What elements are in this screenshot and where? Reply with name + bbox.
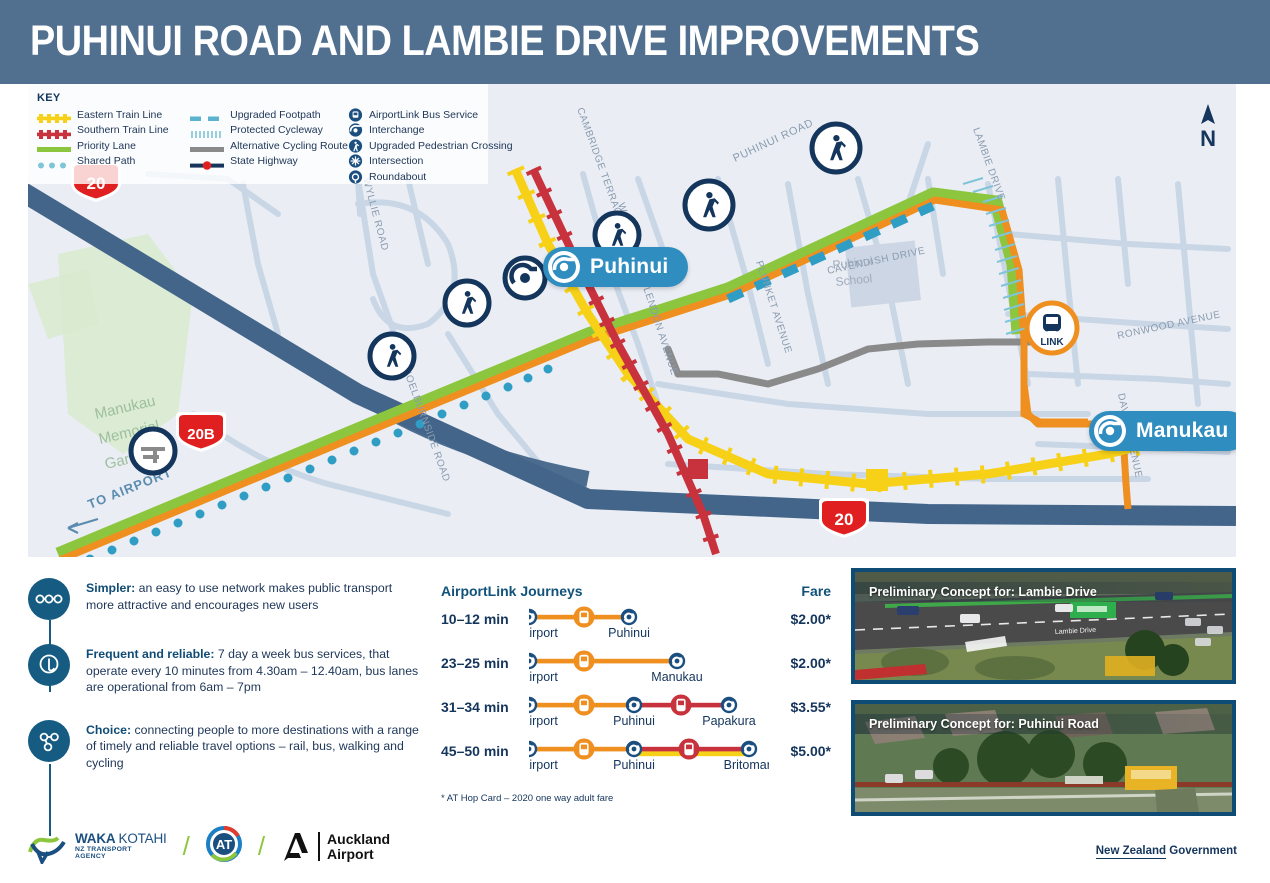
dash-teal-swatch <box>190 110 224 119</box>
footer-logos: WAKA KOTAHI NZ TRANSPORT AGENCY / AT / <box>28 826 390 867</box>
benefit-lead: Choice: <box>86 723 131 737</box>
svg-text:N: N <box>1200 126 1216 151</box>
journey-row: 23–25 min AirportManukau $2.00* <box>441 649 831 687</box>
waka-kotahi-line2: KOTAHI <box>119 831 167 846</box>
legend-label: Alternative Cycling Route <box>230 140 348 152</box>
svg-text:AT: AT <box>216 837 232 852</box>
infographic-page: PUHINUI ROAD AND LAMBIE DRIVE IMPROVEMEN… <box>0 0 1270 883</box>
journey-stop-label: Manukau <box>651 670 702 684</box>
journey-stop-label: Britomart <box>724 758 769 772</box>
roundabout-icon <box>348 170 363 184</box>
svg-text:20: 20 <box>835 510 854 529</box>
journey-fare: $2.00* <box>791 611 831 627</box>
nz-government-logo: New Zealand Government <box>1096 845 1237 857</box>
journey-fare: $3.55* <box>791 699 831 715</box>
dashed-yellow-swatch <box>37 110 71 119</box>
hatch-teal-swatch <box>190 126 224 135</box>
benefit-frequent-reliable: Frequent and reliable: 7 day a week bus … <box>28 644 423 696</box>
journey-duration: 45–50 min <box>441 743 509 759</box>
nzgov-underlined: New Zealand <box>1096 845 1166 859</box>
interchange-icon <box>348 123 363 137</box>
auckland-airport-logo: Auckland Airport <box>281 831 390 863</box>
dashed-red-swatch <box>37 126 71 135</box>
station-puhinui[interactable]: Puhinui <box>543 247 688 287</box>
map-legend: KEY Eastern Train Line Southern Train Li… <box>28 84 488 184</box>
journey-row: 45–50 min AirportPuhinuiBritomart $5.00* <box>441 737 831 775</box>
auckland-airport-line2: Airport <box>327 847 390 862</box>
branch-icon <box>28 720 70 762</box>
journey-stop <box>622 610 636 624</box>
journey-row: 10–12 min AirportPuhinui $2.00* <box>441 605 831 643</box>
legend-column-paths: Upgraded Footpath Protected Cycleway <box>190 108 348 183</box>
benefit-simpler: Simpler: an easy to use network makes pu… <box>28 578 423 620</box>
legend-item-protected-cycleway: Protected Cycleway <box>190 124 348 137</box>
station-manukau[interactable]: Manukau <box>1089 411 1236 451</box>
auckland-airport-line1: Auckland <box>327 832 390 847</box>
state-highway-swatch <box>190 157 224 166</box>
legend-column-lines: Eastern Train Line Southern Train Line P… <box>37 108 190 183</box>
benefit-text: Choice: connecting people to more destin… <box>86 720 423 772</box>
legend-item-interchange: Interchange <box>348 124 488 137</box>
journey-stop-label: Puhinui <box>608 626 650 640</box>
journey-stop-label: Airport <box>529 758 558 772</box>
journey-diagram-3: AirportPuhinuiBritomart <box>529 737 769 775</box>
benefit-lead: Simpler: <box>86 581 135 595</box>
station-label: Manukau <box>1136 419 1228 443</box>
legend-label: Southern Train Line <box>77 124 169 136</box>
legend-label: Roundabout <box>369 171 426 183</box>
solid-grey-swatch <box>190 141 224 150</box>
intersection-icon <box>348 154 363 168</box>
project-map: WALLACE ROAD CAMBRIDGE TERRACE PUHINUI R… <box>28 84 1236 557</box>
legend-label: State Highway <box>230 155 298 167</box>
journey-stop <box>529 742 536 756</box>
logo-separator: / <box>183 831 190 862</box>
dotted-teal-swatch <box>37 157 71 166</box>
legend-label: Eastern Train Line <box>77 109 162 121</box>
page-title: PUHINUI ROAD AND LAMBIE DRIVE IMPROVEMEN… <box>30 17 979 66</box>
legend-item-southern-train-line: Southern Train Line <box>37 124 190 137</box>
legend-label: Priority Lane <box>77 140 136 152</box>
journey-diagram-0: AirportPuhinui <box>529 605 769 643</box>
legend-item-intersection: Intersection <box>348 155 488 168</box>
journey-stop-label: Papakura <box>702 714 756 728</box>
page-header: PUHINUI ROAD AND LAMBIE DRIVE IMPROVEMEN… <box>0 0 1270 84</box>
pedestrian-icon <box>348 139 363 153</box>
journey-stop-label: Puhinui <box>613 714 655 728</box>
journey-duration: 23–25 min <box>441 655 509 671</box>
solid-green-swatch <box>37 141 71 150</box>
legend-item-upgraded-pedestrian-crossing: Upgraded Pedestrian Crossing <box>348 139 488 152</box>
benefit-text: Frequent and reliable: 7 day a week bus … <box>86 644 423 696</box>
concept-caption: Preliminary Concept for: Lambie Drive <box>855 582 1232 602</box>
journey-duration: 31–34 min <box>441 699 509 715</box>
legend-label: Upgraded Footpath <box>230 109 320 121</box>
journey-stop <box>529 698 536 712</box>
journey-stop <box>574 695 595 716</box>
interchange-icon <box>548 251 580 283</box>
journey-stop <box>627 742 641 756</box>
journey-stop <box>574 739 595 760</box>
benefit-lead: Frequent and reliable: <box>86 647 214 661</box>
journey-stop <box>679 739 700 760</box>
benefit-choice: Choice: connecting people to more destin… <box>28 720 423 772</box>
benefit-body: connecting people to more destinations w… <box>86 723 419 770</box>
concept-caption: Preliminary Concept for: Puhinui Road <box>855 714 1232 734</box>
benefits-list: Simpler: an easy to use network makes pu… <box>28 578 423 772</box>
journey-stop-label: Airport <box>529 626 558 640</box>
benefit-text: Simpler: an easy to use network makes pu… <box>86 578 423 620</box>
legend-column-icons: AirportLink Bus Service Interchange <box>348 108 488 183</box>
journeys-title: AirportLink Journeys <box>441 583 583 599</box>
legend-item-roundabout: Roundabout <box>348 170 488 183</box>
journey-stop <box>574 607 595 628</box>
legend-item-state-highway: State Highway <box>190 155 348 168</box>
airportlink-journeys: AirportLink Journeys Fare 10–12 min Airp… <box>441 583 831 804</box>
legend-item-shared-path: Shared Path <box>37 155 190 168</box>
nzgov-rest: Government <box>1166 845 1237 857</box>
journey-stop <box>627 698 641 712</box>
journey-stop <box>529 654 536 668</box>
waka-kotahi-sub2: AGENCY <box>75 854 167 861</box>
legend-label: Upgraded Pedestrian Crossing <box>369 140 513 152</box>
journey-stop-label: Airport <box>529 670 558 684</box>
svg-text:20B: 20B <box>187 426 215 443</box>
fare-note: * AT Hop Card – 2020 one way adult fare <box>441 793 831 804</box>
journey-stop <box>671 695 692 716</box>
journey-stop-label: Airport <box>529 714 558 728</box>
legend-label: Intersection <box>369 155 423 167</box>
journeys-header: AirportLink Journeys Fare <box>441 583 831 599</box>
journey-stop <box>722 698 736 712</box>
benefit-connector <box>49 764 51 836</box>
journey-duration: 10–12 min <box>441 611 509 627</box>
journey-diagram-1: AirportManukau <box>529 649 769 687</box>
legend-item-priority-lane: Priority Lane <box>37 139 190 152</box>
svg-text:LINK: LINK <box>1040 337 1064 348</box>
journey-stop <box>742 742 756 756</box>
journey-stop <box>529 610 536 624</box>
station-label: Puhinui <box>590 255 668 279</box>
journey-diagram-2: AirportPuhinuiPapakura <box>529 693 769 731</box>
clock-icon <box>28 644 70 686</box>
logo-separator: / <box>258 831 265 862</box>
legend-label: Interchange <box>369 124 424 136</box>
legend-item-upgraded-footpath: Upgraded Footpath <box>190 108 348 121</box>
waka-kotahi-line1: WAKA <box>75 831 115 846</box>
bus-icon <box>348 108 363 122</box>
journey-fare: $2.00* <box>791 655 831 671</box>
legend-label: Protected Cycleway <box>230 124 323 136</box>
fare-column-header: Fare <box>801 583 831 599</box>
journey-row: 31–34 min AirportPuhinuiPapakura $3.55* <box>441 693 831 731</box>
legend-item-alternative-cycling-route: Alternative Cycling Route <box>190 139 348 152</box>
concept-image-puhinui-road: Preliminary Concept for: Puhinui Road <box>851 700 1236 816</box>
legend-label: Shared Path <box>77 155 135 167</box>
concept-image-lambie-drive: Lambie Drive Preliminary Concept for: La… <box>851 568 1236 684</box>
interchange-icon <box>1094 415 1126 447</box>
legend-label: AirportLink Bus Service <box>369 109 478 121</box>
legend-item-airportlink-bus-service: AirportLink Bus Service <box>348 108 488 121</box>
journey-fare: $5.00* <box>791 743 831 759</box>
legend-item-eastern-train-line: Eastern Train Line <box>37 108 190 121</box>
journey-stop-label: Puhinui <box>613 758 655 772</box>
journey-stop <box>574 651 595 672</box>
network-nodes-icon <box>28 578 70 620</box>
legend-title: KEY <box>37 92 488 104</box>
auckland-transport-logo: AT <box>206 826 242 867</box>
journey-stop <box>670 654 684 668</box>
